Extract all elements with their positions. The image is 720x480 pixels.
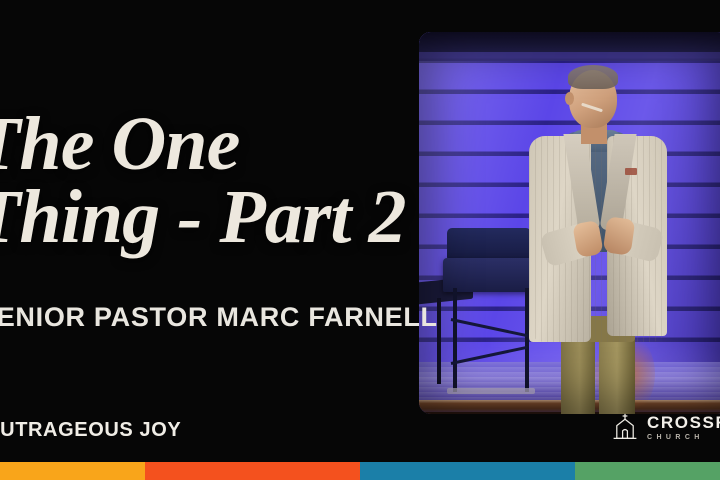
logo-tagline: CHURCH [647,434,720,441]
accent-segment-red-orange [145,462,360,480]
accent-segment-teal [360,462,575,480]
title-line-1: The One [0,108,444,181]
page-title: The One Thing - Part 2 [0,108,444,254]
speaker-name-subtitle: SENIOR PASTOR MARC FARNELL [0,302,438,333]
church-cross-icon [612,413,638,441]
accent-segment-green [575,462,720,480]
series-label: OUTRAGEOUS JOY [0,419,181,442]
sermon-title-card: The One Thing - Part 2 SENIOR PASTOR MAR… [0,0,720,480]
speaker-photo [419,32,720,414]
logo-name: CROSSRIDGE [647,414,720,431]
logo-wordmark: CROSSRIDGE CHURCH [647,414,720,441]
accent-segment-amber [0,462,145,480]
title-line-2: Thing - Part 2 [0,181,444,254]
accent-color-bar [0,462,720,480]
photo-vignette [419,32,720,414]
church-logo: CROSSRIDGE CHURCH [612,413,720,441]
